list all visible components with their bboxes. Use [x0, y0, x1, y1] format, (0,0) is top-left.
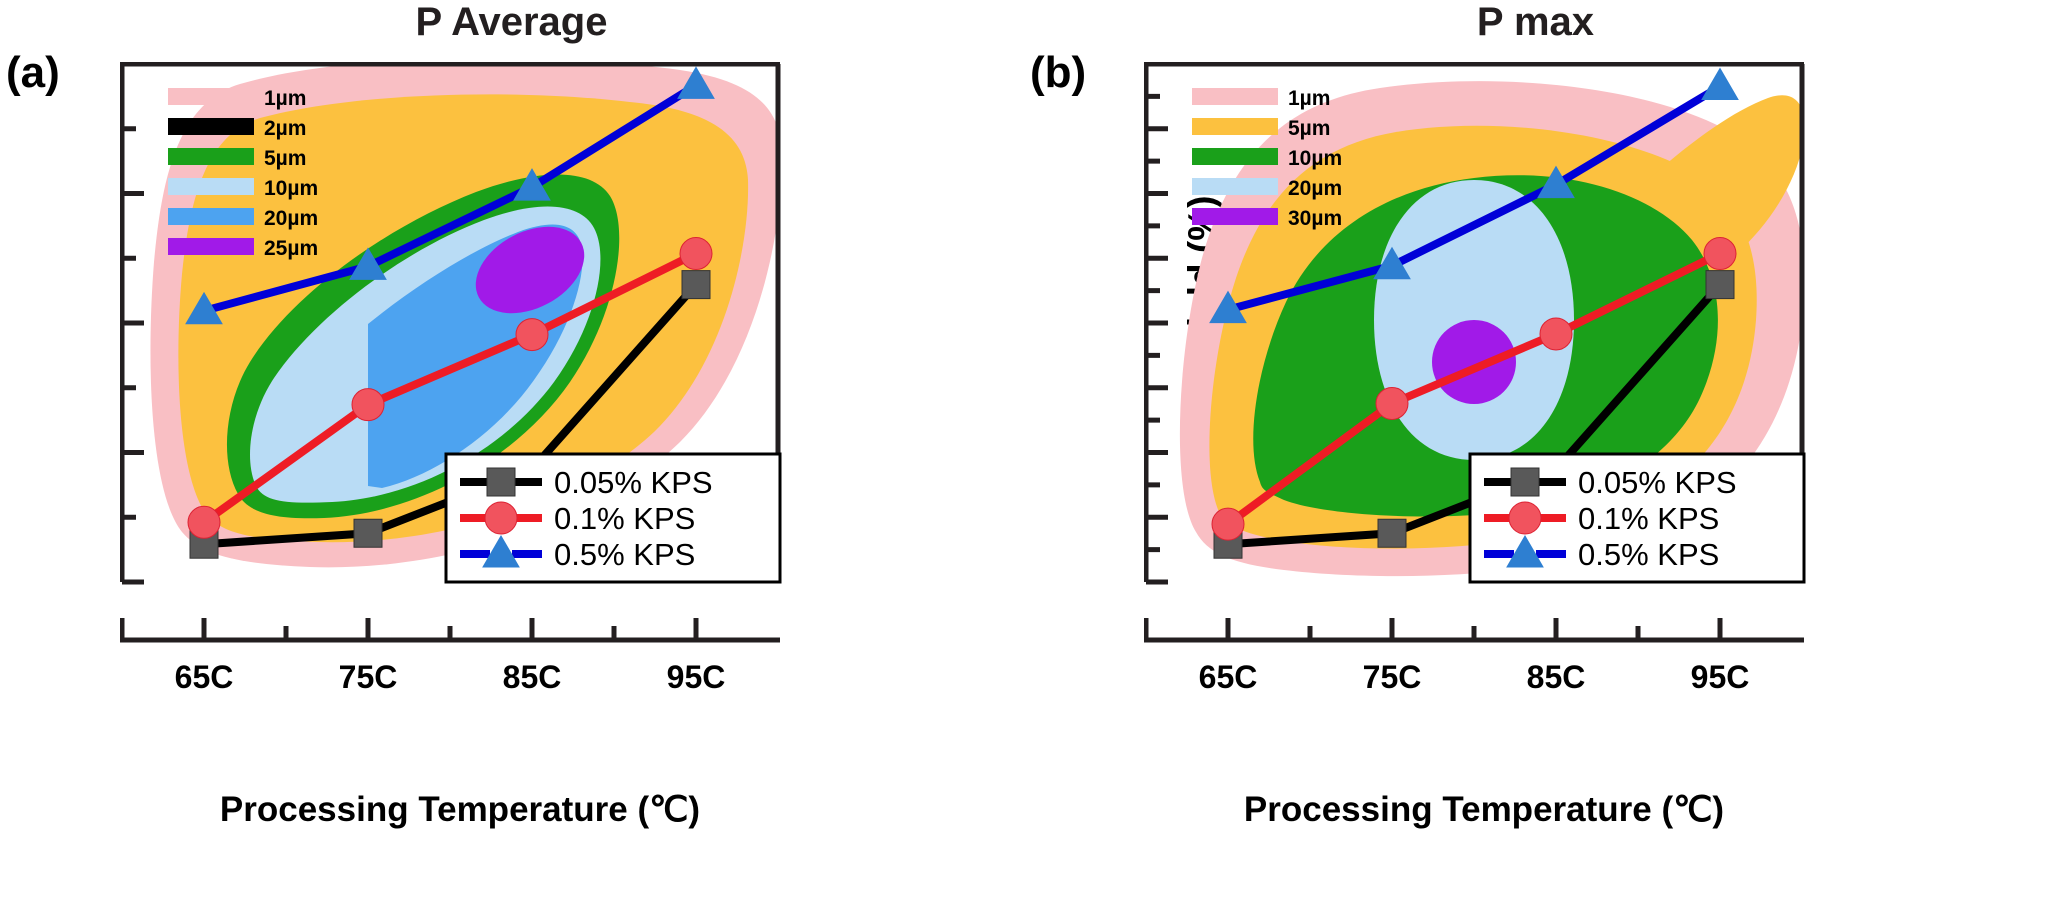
data-point[interactable] — [1376, 387, 1408, 419]
size-legend-swatch-10µm — [168, 178, 254, 195]
size-legend-label-25µm: 25µm — [264, 237, 318, 260]
x-tick-95C: 95C — [1691, 659, 1750, 695]
series-legend-label: 0.1% KPS — [554, 501, 695, 536]
panel-a-tag: (a) — [6, 48, 60, 98]
size-legend-swatch-20µm — [1192, 178, 1278, 195]
panel-b-plot-area: Yield (%) Processing Temperature (℃) 010… — [1144, 62, 1824, 682]
panel-a-y-ticks — [122, 64, 144, 582]
size-legend-label-5µm: 5µm — [1288, 117, 1330, 140]
series-legend-marker — [1511, 468, 1539, 496]
size-legend-label-2µm: 2µm — [264, 117, 306, 140]
data-point[interactable] — [1378, 519, 1406, 547]
x-tick-65C: 65C — [175, 659, 234, 695]
series-legend-marker — [485, 502, 517, 534]
data-point[interactable] — [682, 271, 710, 299]
panel-b-title: P max — [1024, 0, 2047, 45]
panel-a-title: P Average — [0, 0, 1023, 45]
series-legend-label: 0.5% KPS — [554, 537, 695, 572]
size-legend-label-30µm: 30µm — [1288, 207, 1342, 230]
panel-a-plot-area: Yield (%) Processing Temperature (℃) — [120, 62, 800, 682]
panel-b-svg: 0102030405060708065C75C85C95C1µm5µm10µm2… — [1144, 62, 1844, 822]
x-tick-95C: 95C — [667, 659, 726, 695]
x-tick-65C: 65C — [1199, 659, 1258, 695]
panel-a-svg: 0102030405060708065C75C85C95C1µm2µm5µm10… — [120, 62, 820, 782]
panel-b-x-tick-labels: 65C75C85C95C — [1199, 659, 1750, 695]
size-legend-label-1µm: 1µm — [264, 87, 306, 110]
size-legend-swatch-30µm — [1192, 208, 1278, 225]
panel-b-y-ticks — [1146, 64, 1168, 582]
data-point[interactable] — [352, 389, 384, 421]
size-legend-label-10µm: 10µm — [1288, 147, 1342, 170]
series-legend-label: 0.05% KPS — [1578, 465, 1737, 500]
panel-b-size-legend: 1µm5µm10µm20µm30µm — [1192, 87, 1342, 230]
data-point[interactable] — [354, 519, 382, 547]
panel-b-series-legend: 0.05% KPS0.1% KPS0.5% KPS — [1470, 454, 1804, 582]
series-legend-marker — [1509, 502, 1541, 534]
size-legend-label-5µm: 5µm — [264, 147, 306, 170]
size-legend-swatch-10µm — [1192, 148, 1278, 165]
panel-a-x-ticks — [122, 618, 696, 640]
x-tick-85C: 85C — [503, 659, 562, 695]
size-legend-label-20µm: 20µm — [264, 207, 318, 230]
series-legend-label: 0.1% KPS — [1578, 501, 1719, 536]
band-30um-b — [1432, 320, 1516, 404]
series-legend-label: 0.05% KPS — [554, 465, 713, 500]
series-legend-label: 0.5% KPS — [1578, 537, 1719, 572]
data-point[interactable] — [1704, 238, 1736, 270]
size-legend-swatch-5µm — [1192, 118, 1278, 135]
data-point[interactable] — [680, 238, 712, 270]
data-point[interactable] — [188, 506, 220, 538]
data-point[interactable] — [1706, 271, 1734, 299]
panel-b-x-ticks — [1146, 618, 1720, 640]
panel-a-x-axis-label: Processing Temperature (℃) — [80, 790, 840, 830]
data-point[interactable] — [1212, 508, 1244, 540]
size-legend-swatch-5µm — [168, 148, 254, 165]
size-legend-swatch-20µm — [168, 208, 254, 225]
data-point[interactable] — [1540, 318, 1572, 350]
panel-b-tag: (b) — [1030, 48, 1086, 98]
data-point[interactable] — [1702, 69, 1738, 100]
size-legend-swatch-1µm — [168, 88, 254, 105]
size-legend-swatch-2µm — [168, 118, 254, 135]
panel-a-x-tick-labels: 65C75C85C95C — [175, 659, 726, 695]
x-tick-85C: 85C — [1527, 659, 1586, 695]
x-tick-75C: 75C — [339, 659, 398, 695]
size-legend-label-20µm: 20µm — [1288, 177, 1342, 200]
size-legend-swatch-1µm — [1192, 88, 1278, 105]
panel-b: P max (b) Yield (%) Processing Temperatu… — [1024, 0, 2047, 916]
size-legend-label-10µm: 10µm — [264, 177, 318, 200]
panel-a: P Average (a) Yield (%) Processing Tempe… — [0, 0, 1023, 916]
size-legend-swatch-25µm — [168, 238, 254, 255]
size-legend-label-1µm: 1µm — [1288, 87, 1330, 110]
x-tick-75C: 75C — [1363, 659, 1422, 695]
data-point[interactable] — [516, 319, 548, 351]
panel-a-series-legend: 0.05% KPS0.1% KPS0.5% KPS — [446, 454, 780, 582]
figure-root: P Average (a) Yield (%) Processing Tempe… — [0, 0, 2047, 916]
series-legend-marker — [487, 468, 515, 496]
